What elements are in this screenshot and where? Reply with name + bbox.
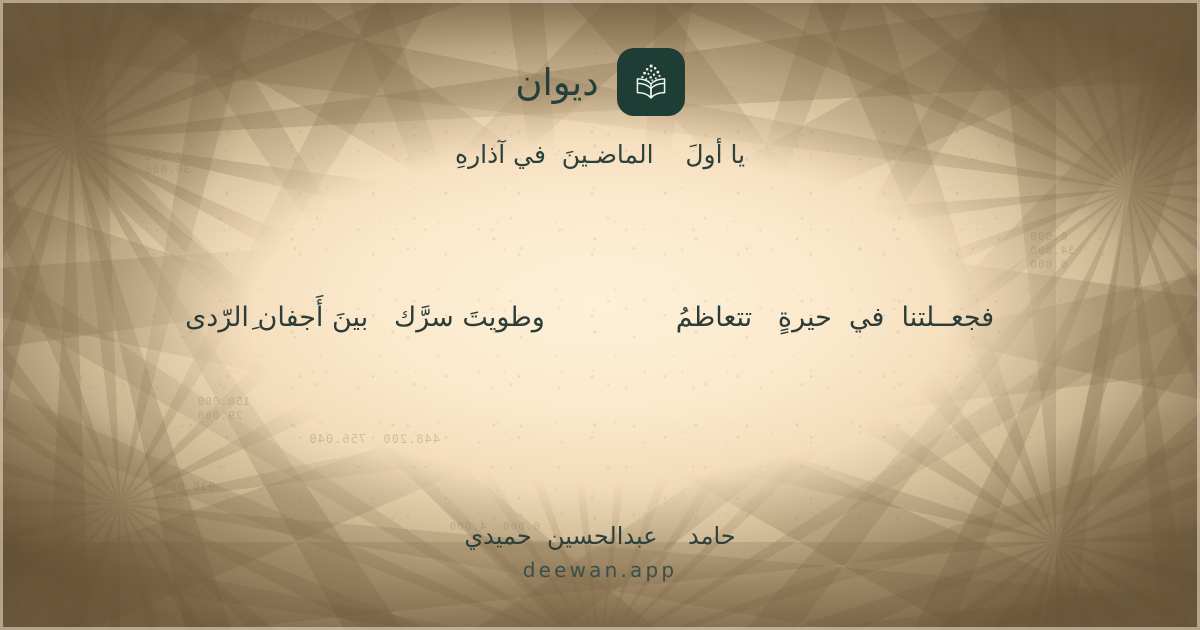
poem-card: 127.000 540.812 0.000 34.000 0.000 150.0… <box>0 0 1200 630</box>
poet-name: حامد عبدالحسين حميدي <box>464 522 735 550</box>
page-title: يا أولَ الماضـينَ في آذارهِ <box>455 140 745 169</box>
verse-list: فجعــلتنا في حيرةٍ تتعاظمُ وطويتَ سرَّك … <box>0 300 1200 336</box>
site-url[interactable]: deewan.app <box>523 558 678 582</box>
brand-name: ديوان <box>515 64 598 101</box>
verse-hemistich-first: وطويتَ سرَّك بينَ أَجفان ِالرّدى <box>130 300 600 336</box>
brand-logo-badge <box>617 48 685 116</box>
open-book-with-sparkles-icon <box>630 61 672 103</box>
brand-lockup[interactable]: ديوان <box>515 48 684 116</box>
card-content: ديوان يا أولَ الماضـينَ في آذارهِ فجعــل… <box>0 0 1200 630</box>
card-footer: حامد عبدالحسين حميدي deewan.app <box>0 522 1200 582</box>
verse-row: فجعــلتنا في حيرةٍ تتعاظمُ وطويتَ سرَّك … <box>0 300 1200 336</box>
verse-hemistich-second: فجعــلتنا في حيرةٍ تتعاظمُ <box>600 300 1070 336</box>
